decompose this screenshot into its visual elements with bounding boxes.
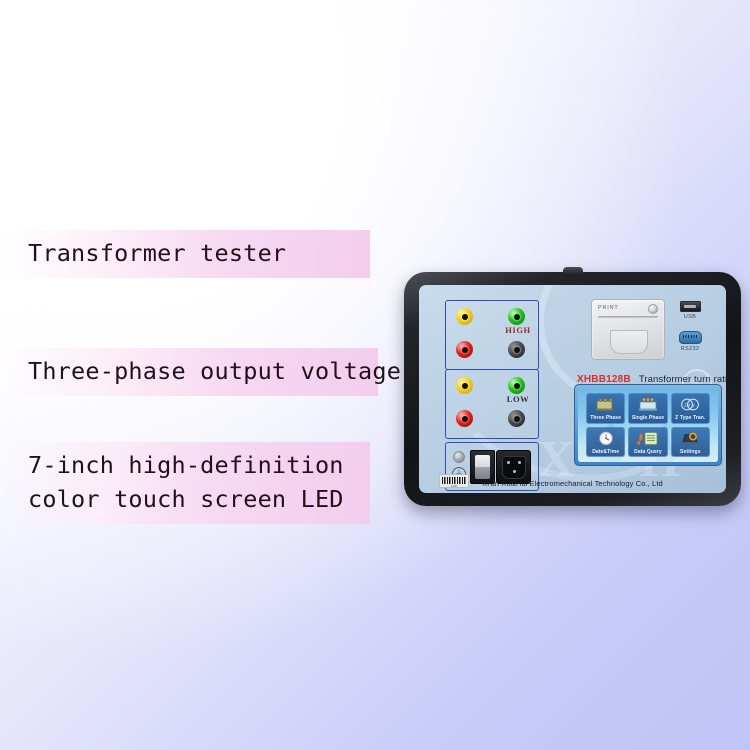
case-top-nub bbox=[563, 267, 583, 276]
rs232-port-group: RS232 bbox=[676, 331, 704, 352]
copy-line: Three-phase output voltage bbox=[28, 354, 362, 388]
menu-tile-label: Single Phase bbox=[629, 415, 666, 421]
terminal-high-black[interactable] bbox=[508, 341, 525, 358]
printer-door[interactable] bbox=[610, 330, 648, 354]
terminal-group-low: LOW bbox=[445, 369, 539, 439]
menu-tile-settings[interactable]: Settings bbox=[671, 427, 710, 458]
iec-pin bbox=[507, 461, 510, 464]
laptop-gear-icon bbox=[678, 431, 702, 446]
svg-text:y: y bbox=[693, 403, 696, 408]
terminal-group-label-low: LOW bbox=[478, 394, 558, 404]
three-phase-transformer-icon bbox=[594, 397, 618, 412]
terminal-group-high: HIGH bbox=[445, 300, 539, 370]
copy-block-feature-voltage: Three-phase output voltage bbox=[0, 348, 378, 396]
terminal-low-red[interactable] bbox=[456, 410, 473, 427]
menu-tile-single-phase[interactable]: Single Phase bbox=[628, 393, 667, 424]
copy-block-feature-screen: 7-inch high-definition color touch scree… bbox=[0, 442, 370, 524]
rs232-icon[interactable] bbox=[679, 331, 702, 344]
menu-tile-grid: Three Phase Single Phase bbox=[578, 388, 718, 462]
document-list-icon bbox=[636, 431, 660, 446]
menu-tile-label: Three Phase bbox=[587, 415, 624, 421]
clock-gauge-icon bbox=[594, 431, 618, 446]
single-phase-transformer-icon bbox=[636, 397, 660, 412]
z-type-winding-icon: ZN y bbox=[678, 397, 702, 412]
terminal-low-black[interactable] bbox=[508, 410, 525, 427]
printer-feed-button[interactable] bbox=[648, 304, 658, 314]
iec-inlet-cavity bbox=[502, 456, 526, 479]
copy-line: 7-inch high-definition bbox=[28, 448, 354, 482]
thermal-printer[interactable]: PRINT bbox=[591, 299, 665, 360]
terminal-low-yellow[interactable] bbox=[456, 377, 473, 394]
iec-pin bbox=[518, 461, 521, 464]
terminal-high-green[interactable] bbox=[508, 308, 525, 325]
menu-tile-data-query[interactable]: Data Query bbox=[628, 427, 667, 458]
menu-tile-date-time[interactable]: Date&Time bbox=[586, 427, 625, 458]
menu-tile-label: Date&Time bbox=[587, 449, 624, 455]
menu-tile-three-phase[interactable]: Three Phase bbox=[586, 393, 625, 424]
ground-post[interactable] bbox=[453, 451, 465, 463]
transformer-tester-device: ® X H T HIGH LOW ⏚ bbox=[404, 272, 741, 506]
usb-port-group: USB bbox=[676, 301, 704, 320]
printer-label: PRINT bbox=[598, 305, 619, 311]
usb-icon[interactable] bbox=[680, 301, 701, 312]
terminal-group-label-high: HIGH bbox=[478, 325, 558, 335]
copy-block-title: Transformer tester bbox=[0, 230, 370, 278]
menu-tile-label: Settings bbox=[672, 449, 709, 455]
device-front-panel: ® X H T HIGH LOW ⏚ bbox=[419, 285, 726, 493]
svg-text:ZN: ZN bbox=[684, 403, 690, 408]
barcode-number: 128 bbox=[442, 484, 466, 488]
terminal-low-green[interactable] bbox=[508, 377, 525, 394]
usb-port-label: USB bbox=[676, 314, 704, 320]
barcode-label: 128 bbox=[439, 474, 469, 488]
copy-line: color touch screen LED bbox=[28, 482, 354, 516]
product-banner: Transformer tester Three-phase output vo… bbox=[0, 0, 750, 750]
lcd-screen-surface: Three Phase Single Phase bbox=[578, 388, 718, 462]
terminal-high-yellow[interactable] bbox=[456, 308, 473, 325]
printer-paper-slot bbox=[598, 316, 658, 318]
iec-pin bbox=[513, 470, 516, 473]
menu-tile-label: Data Query bbox=[629, 449, 666, 455]
lcd-touch-screen[interactable]: Three Phase Single Phase bbox=[574, 384, 722, 466]
menu-tile-z-type[interactable]: ZN y Z Type Tran. bbox=[671, 393, 710, 424]
menu-tile-label: Z Type Tran. bbox=[672, 415, 709, 421]
terminal-high-red[interactable] bbox=[456, 341, 473, 358]
copy-line: Transformer tester bbox=[28, 236, 354, 270]
rs232-port-label: RS232 bbox=[676, 346, 704, 352]
barcode-bars bbox=[442, 477, 466, 484]
